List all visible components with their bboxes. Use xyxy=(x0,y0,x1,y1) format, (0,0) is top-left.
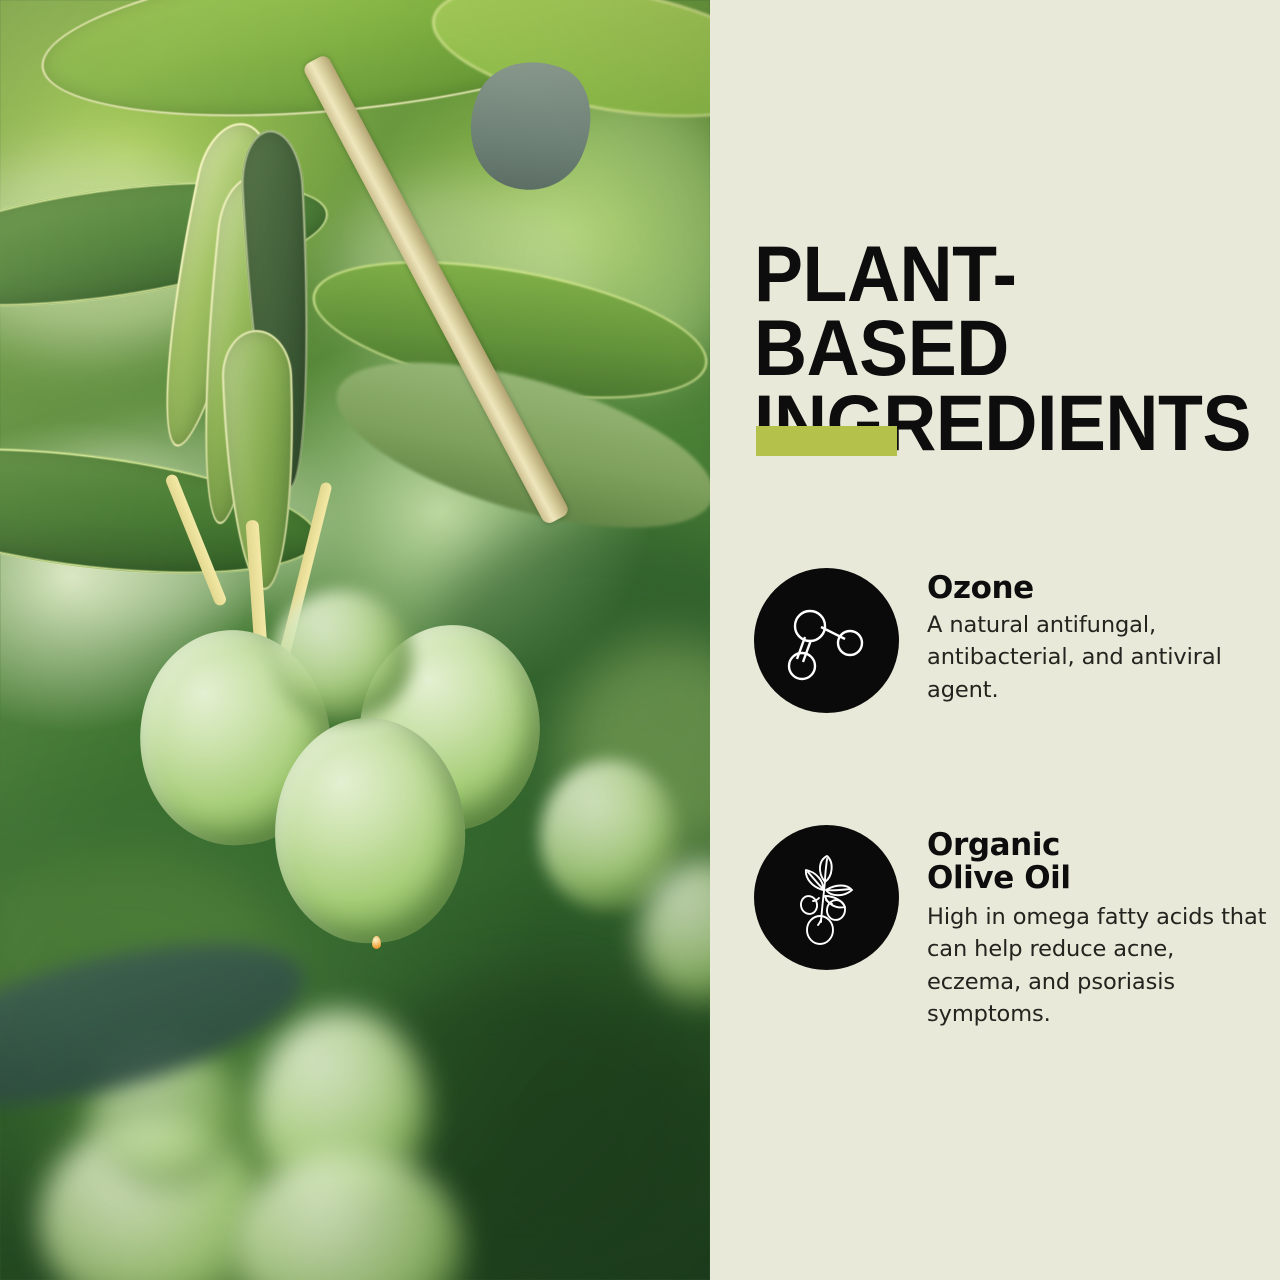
olive-photograph xyxy=(0,0,710,1280)
feature-text-olive-oil: Organic Olive Oil High in omega fatty ac… xyxy=(927,825,1270,1030)
ozone-molecule-icon xyxy=(754,568,899,713)
feature-title: Organic Olive Oil xyxy=(927,829,1270,895)
feature-description: High in omega fatty acids that can help … xyxy=(927,901,1270,1031)
olive-branch-icon xyxy=(754,825,899,970)
accent-bar xyxy=(756,426,897,456)
feature-item-olive-oil: Organic Olive Oil High in omega fatty ac… xyxy=(754,825,1270,1030)
feature-item-ozone: Ozone A natural antifungal, antibacteria… xyxy=(754,568,1270,713)
feature-description: A natural antifungal, antibacterial, and… xyxy=(927,609,1270,706)
feature-title: Ozone xyxy=(927,572,1270,605)
infographic-canvas: PLANT-BASED INGREDIENTS Ozone xyxy=(0,0,1280,1280)
photo-vignette xyxy=(0,0,710,1280)
feature-text-ozone: Ozone A natural antifungal, antibacteria… xyxy=(927,568,1270,706)
ingredients-panel: PLANT-BASED INGREDIENTS Ozone xyxy=(710,0,1280,1280)
